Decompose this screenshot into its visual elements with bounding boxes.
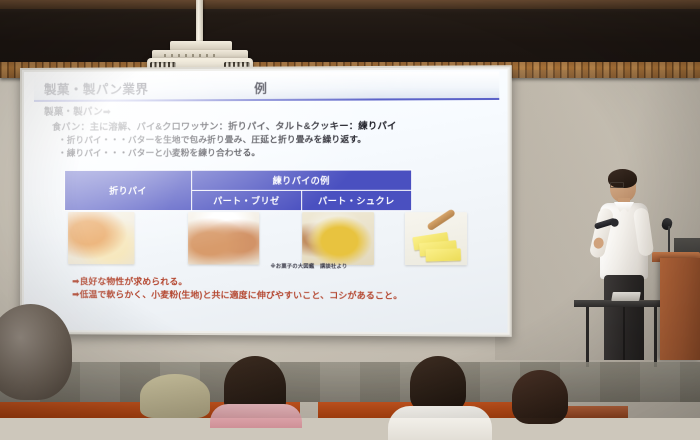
audience-head bbox=[410, 356, 466, 412]
photo-butter-blocks bbox=[405, 212, 467, 265]
presenter-hand bbox=[593, 237, 605, 250]
photo-hands-kneading-flour bbox=[188, 212, 259, 265]
rolling-pin-shape bbox=[426, 208, 456, 231]
table-header-neri-pie-group: 練りパイの例 bbox=[192, 170, 412, 190]
laptop-on-table[interactable] bbox=[611, 292, 641, 301]
table-subheader-pate-brisee: パート・ブリゼ bbox=[192, 190, 302, 210]
presenter-table bbox=[574, 300, 670, 307]
floor-texture bbox=[0, 362, 700, 402]
table-leg bbox=[654, 307, 657, 367]
presenter bbox=[594, 172, 656, 360]
pastry-comparison-table: 折りパイ 練りパイの例 パート・ブリゼ パート・シュクレ bbox=[64, 169, 412, 211]
table-header-ori-pie: 折りパイ bbox=[65, 170, 192, 210]
audience-shoulders bbox=[388, 406, 492, 440]
slide-lead-line: 製菓・製パン➡ bbox=[44, 102, 499, 118]
projector-mount-pipe bbox=[196, 0, 203, 44]
projection-screen: 製菓・製パン業界 例 製菓・製パン➡ 食パン：主に溶解、パイ&クロワッサン：折り… bbox=[20, 65, 512, 337]
wooden-podium bbox=[660, 258, 700, 360]
slide-photo-row bbox=[64, 212, 472, 269]
slide-bullet-1: ➡良好な物性が求められる。 bbox=[72, 274, 187, 287]
hall-floor bbox=[0, 362, 700, 402]
audience-head bbox=[0, 304, 72, 400]
slide-bullet-2: ➡低温で軟らかく、小麦粉(生地)と共に適度に伸びやすいこと、コシがあること。 bbox=[72, 287, 402, 301]
slide-source-credit: ※お菓子の大図鑑 講談社より bbox=[270, 263, 347, 270]
audience-head bbox=[140, 374, 210, 418]
presenter-trousers bbox=[604, 275, 644, 360]
audience-shoulders bbox=[210, 404, 302, 428]
table-subheader-pate-sucree: パート・シュクレ bbox=[301, 190, 412, 210]
table-leg bbox=[586, 307, 589, 367]
slide-line-1: 食パン：主に溶解、パイ&クロワッサン：折りパイ、タルト&クッキー：練りパイ bbox=[52, 117, 499, 133]
butter-slab bbox=[425, 248, 461, 261]
slide-body: 製菓・製パン➡ 食パン：主に溶解、パイ&クロワッサン：折りパイ、タルト&クッキー… bbox=[40, 100, 499, 160]
photo-bowl-mixing-dough bbox=[302, 212, 374, 265]
slide-line-2: ・折りパイ・・・バターを生地で包み折り畳み、圧延と折り畳みを繰り返す。 bbox=[58, 133, 499, 146]
presentation-scene: EPSON 製菓・製パン業界 例 製菓・製パン➡ 食パン：主に溶解、パイ&クロワ… bbox=[0, 0, 700, 418]
slide-content: 製菓・製パン業界 例 製菓・製パン➡ 食パン：主に溶解、パイ&クロワッサン：折り… bbox=[24, 69, 508, 332]
photo-folded-pie-dough bbox=[68, 212, 134, 264]
slide-title-right: 例 bbox=[254, 78, 267, 97]
glasses-icon bbox=[610, 182, 624, 188]
ceiling-top-trim bbox=[0, 0, 700, 9]
slide-title-left: 製菓・製パン業界 bbox=[44, 78, 148, 98]
audience-head bbox=[224, 356, 286, 418]
slide-title-band: 製菓・製パン業界 例 bbox=[34, 71, 499, 102]
table-row: 折りパイ 練りパイの例 bbox=[65, 170, 412, 190]
slide-line-3: ・練りパイ・・・バターと小麦粉を練り合わせる。 bbox=[58, 146, 499, 159]
audience-head bbox=[512, 370, 568, 424]
